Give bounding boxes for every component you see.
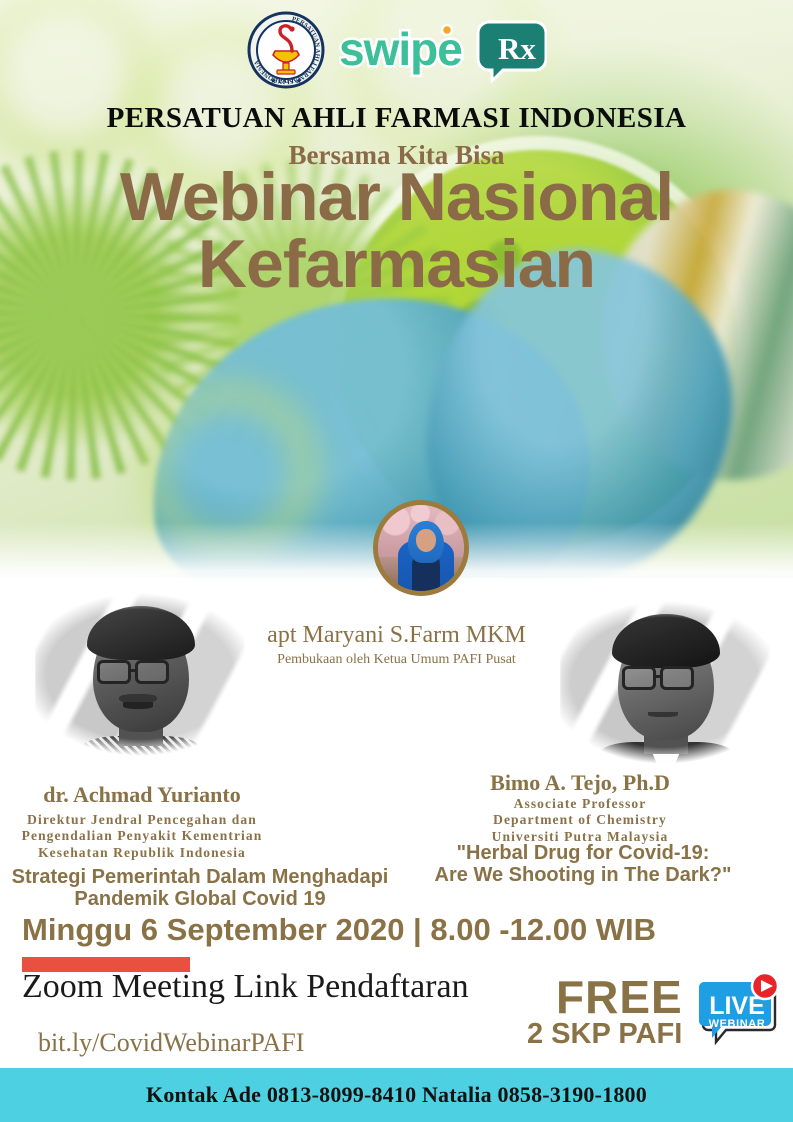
event-platform: Zoom Meeting Link Pendaftaran <box>22 968 469 1006</box>
affiliation-line: Pengendalian Penyakit Kementrian <box>0 828 342 844</box>
affiliation-line: Direktur Jendral Pencegahan dan <box>0 812 342 828</box>
registration-link[interactable]: bit.ly/CovidWebinarPAFI <box>38 1028 304 1058</box>
main-title-line1: Webinar Nasional <box>0 164 793 231</box>
speaker-photo-tejo <box>560 596 770 776</box>
topic-line: Strategi Pemerintah Dalam Menghadapi <box>0 866 410 888</box>
main-title-line2: Kefarmasian <box>0 231 793 298</box>
speaker-photo-yurianto <box>35 588 245 768</box>
affiliation-line: Department of Chemistry <box>380 812 780 828</box>
speaker-topic-yurianto: Strategi Pemerintah Dalam Menghadapi Pan… <box>0 866 410 911</box>
speaker-photo-maryani <box>373 500 469 596</box>
main-title: Webinar Nasional Kefarmasian <box>0 164 793 297</box>
speaker-affiliation-tejo: Associate Professor Department of Chemis… <box>380 796 780 845</box>
topic-line: "Herbal Drug for Covid-19: <box>373 842 793 864</box>
event-datetime: Minggu 6 September 2020 | 8.00 -12.00 WI… <box>22 912 656 948</box>
topic-line: Pandemik Global Covid 19 <box>0 888 410 910</box>
svg-text:Rx: Rx <box>498 31 536 66</box>
svg-text:★ PAFI ★: ★ PAFI ★ <box>270 77 303 85</box>
webinar-poster: PERSATUAN AHLI FARMASI INDONESIA ★ PAFI … <box>0 0 793 1122</box>
speaker-name-tejo: Bimo A. Tejo, Ph.D <box>380 770 780 796</box>
badge-webinar-text: WEBINAR <box>709 1018 766 1030</box>
live-webinar-badge-icon: LIVE WEBINAR <box>698 972 782 1048</box>
speaker-affiliation-yurianto: Direktur Jendral Pencegahan dan Pengenda… <box>0 812 342 861</box>
speaker-topic-tejo: "Herbal Drug for Covid-19: Are We Shooti… <box>373 842 793 887</box>
speaker-name-yurianto: dr. Achmad Yurianto <box>0 782 342 808</box>
credits-label: 2 SKP PAFI <box>527 1018 682 1051</box>
pafi-logo-icon: PERSATUAN AHLI FARMASI INDONESIA ★ PAFI … <box>247 11 325 89</box>
contact-info: Kontak Ade 0813-8099-8410 Natalia 0858-3… <box>146 1082 647 1108</box>
topic-line: Are We Shooting in The Dark?" <box>373 864 793 886</box>
header-logos: PERSATUAN AHLI FARMASI INDONESIA ★ PAFI … <box>0 6 793 94</box>
swiperx-logo-icon: swipe Rx <box>339 17 547 83</box>
affiliation-line: Kesehatan Republik Indonesia <box>0 845 342 861</box>
affiliation-line: Associate Professor <box>380 796 780 812</box>
footer-bar: Kontak Ade 0813-8099-8410 Natalia 0858-3… <box>0 1068 793 1122</box>
page-title: PERSATUAN AHLI FARMASI INDONESIA <box>0 102 793 135</box>
price-label: FREE <box>556 970 683 1024</box>
